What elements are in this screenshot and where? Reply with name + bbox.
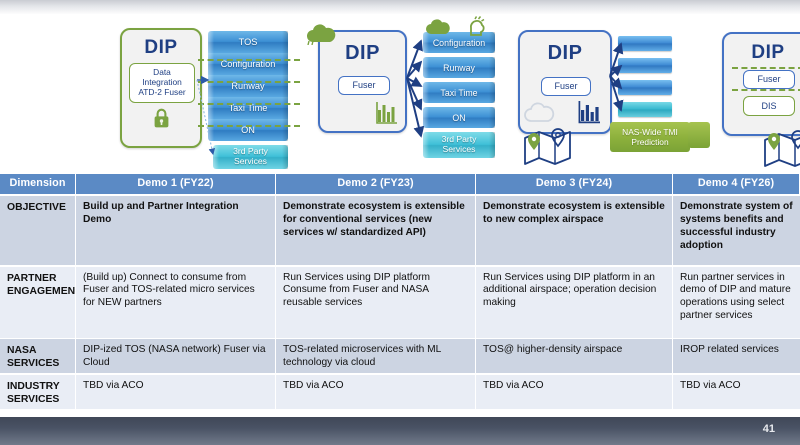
dis-box-4: DIS bbox=[743, 96, 795, 116]
page-number: 41 bbox=[763, 423, 775, 435]
dip-title-4: DIP bbox=[724, 42, 800, 64]
dashed-connector bbox=[732, 67, 800, 69]
cell-partner-demo1: (Build up) Connect to consume from Fuser… bbox=[76, 267, 276, 338]
dip-inner-4: Fuser bbox=[743, 70, 795, 89]
col-header-demo2: Demo 2 (FY23) bbox=[276, 174, 476, 194]
footer-gap bbox=[0, 409, 800, 417]
top-gradient-strip bbox=[0, 0, 800, 14]
cell-objective-demo4: Demonstrate system of systems benefits a… bbox=[673, 196, 800, 265]
map-pin-icon bbox=[762, 126, 800, 168]
cell-objective-demo3: Demonstrate ecosystem is extensible to n… bbox=[476, 196, 673, 265]
green-slab-edge bbox=[688, 122, 710, 148]
row-label-nasa-services: NASA SERVICES bbox=[0, 339, 76, 373]
cell-nasa-demo1: DIP-ized TOS (NASA network) Fuser via Cl… bbox=[76, 339, 276, 373]
cell-nasa-demo3: TOS@ higher-density airspace bbox=[476, 339, 673, 373]
cell-nasa-demo4: IROP related services bbox=[673, 339, 800, 373]
architecture-diagram: DIP Data Integration ATD-2 Fuser bbox=[0, 14, 800, 170]
col-header-demo3: Demo 3 (FY24) bbox=[476, 174, 673, 194]
panel-demo4: DIP Fuser DIS bbox=[700, 14, 800, 170]
dip-container-4[interactable]: DIP Fuser DIS bbox=[722, 32, 800, 136]
dashed-connector bbox=[732, 89, 800, 91]
panel-demo2: DIP Fuser bbox=[305, 14, 495, 170]
footer-bar: 41 bbox=[0, 417, 800, 445]
col-header-dimension: Dimension bbox=[0, 174, 76, 194]
dis-label: DIS bbox=[761, 101, 776, 112]
col-header-demo4: Demo 4 (FY26) bbox=[673, 174, 800, 194]
table-row-partner-engagement[interactable]: PARTNER ENGAGEMENT (Build up) Connect to… bbox=[0, 267, 800, 338]
panel2-arrows bbox=[305, 14, 495, 170]
row-label-partner-engagement: PARTNER ENGAGEMENT bbox=[0, 267, 76, 338]
cell-objective-demo2: Demonstrate ecosystem is extensible for … bbox=[276, 196, 476, 265]
panel3-arrows bbox=[500, 14, 692, 170]
panel-demo3: DIP Fuser bbox=[500, 14, 692, 170]
panel1-arrows bbox=[118, 14, 300, 170]
cell-partner-demo4: Run partner services in demo of DIP and … bbox=[673, 267, 800, 338]
fuser-label-4: Fuser bbox=[757, 74, 780, 85]
table-row-objective[interactable]: OBJECTIVE Build up and Partner Integrati… bbox=[0, 196, 800, 265]
row-label-objective: OBJECTIVE bbox=[0, 196, 76, 265]
cell-partner-demo3: Run Services using DIP platform in an ad… bbox=[476, 267, 673, 338]
col-header-demo1: Demo 1 (FY22) bbox=[76, 174, 276, 194]
cell-objective-demo1: Build up and Partner Integration Demo bbox=[76, 196, 276, 265]
table-header-row: Dimension Demo 1 (FY22) Demo 2 (FY23) De… bbox=[0, 174, 800, 195]
slide: DIP Data Integration ATD-2 Fuser bbox=[0, 0, 800, 445]
roadmap-table: Dimension Demo 1 (FY22) Demo 2 (FY23) De… bbox=[0, 174, 800, 422]
table-row-nasa-services[interactable]: NASA SERVICES DIP-ized TOS (NASA network… bbox=[0, 339, 800, 373]
panel-demo1: DIP Data Integration ATD-2 Fuser bbox=[118, 14, 300, 170]
cell-nasa-demo2: TOS-related microservices with ML techno… bbox=[276, 339, 476, 373]
cell-partner-demo2: Run Services using DIP platform Consume … bbox=[276, 267, 476, 338]
